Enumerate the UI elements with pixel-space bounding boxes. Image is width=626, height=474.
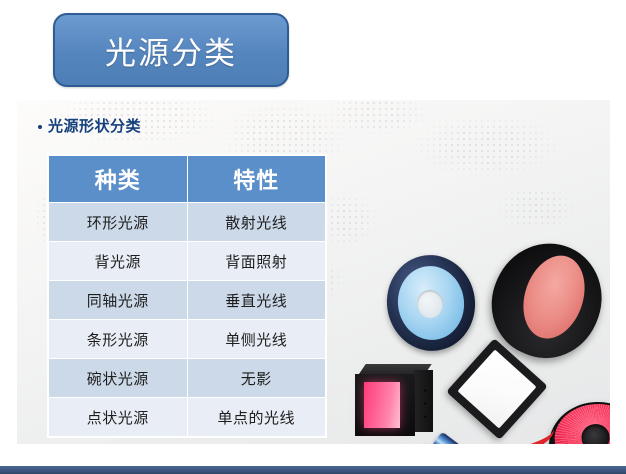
cell-type: 碗状光源	[49, 359, 188, 398]
table-header-row: 种类 特性	[49, 156, 326, 203]
footer-bar	[0, 466, 626, 474]
table-row: 同轴光源 垂直光线	[49, 281, 326, 320]
coaxial-light-glow-panel	[364, 382, 400, 428]
light-source-table: 种类 特性 环形光源 散射光线 背光源 背面照射 同轴光源 垂直光线	[48, 155, 326, 437]
logo-swoosh-icon	[437, 422, 557, 444]
cell-feature: 背面照射	[187, 242, 326, 281]
table-row: 环形光源 散射光线	[49, 203, 326, 242]
cell-feature: 单侧光线	[187, 320, 326, 359]
slide-canvas: 光源分类 光源形状分类 种类 特性 环形光源 散射光线	[0, 0, 626, 474]
table-row: 背光源 背面照射	[49, 242, 326, 281]
cell-feature: 散射光线	[187, 203, 326, 242]
cell-type: 背光源	[49, 242, 188, 281]
cell-type: 环形光源	[49, 203, 188, 242]
page-title: 光源分类	[105, 28, 237, 73]
ring-light-blue-photo	[381, 249, 482, 356]
table-header-feature: 特性	[187, 156, 326, 203]
content-panel: 光源形状分类 种类 特性 环形光源 散射光线 背光源 背面照射	[17, 100, 610, 444]
coaxial-light-screw-holes	[423, 384, 427, 424]
table-header-type: 种类	[49, 156, 188, 203]
backlight-diffuser-panel	[457, 349, 536, 428]
bullet-heading: 光源形状分类	[38, 115, 141, 136]
table-row: 点状光源 单点的光线	[49, 398, 326, 437]
slide-title-banner: 光源分类	[53, 13, 289, 87]
table-row: 条形光源 单侧光线	[49, 320, 326, 359]
cell-feature: 无影	[187, 359, 326, 398]
coaxial-light-box-photo	[355, 364, 433, 436]
bullet-heading-label: 光源形状分类	[48, 115, 141, 136]
company-logo	[437, 422, 557, 444]
table-row: 碗状光源 无影	[49, 359, 326, 398]
cell-type: 同轴光源	[49, 281, 188, 320]
cell-type: 条形光源	[49, 320, 188, 359]
cell-type: 点状光源	[49, 398, 188, 437]
bullet-dot-icon	[38, 125, 42, 129]
cell-feature: 垂直光线	[187, 281, 326, 320]
cell-feature: 单点的光线	[187, 398, 326, 437]
